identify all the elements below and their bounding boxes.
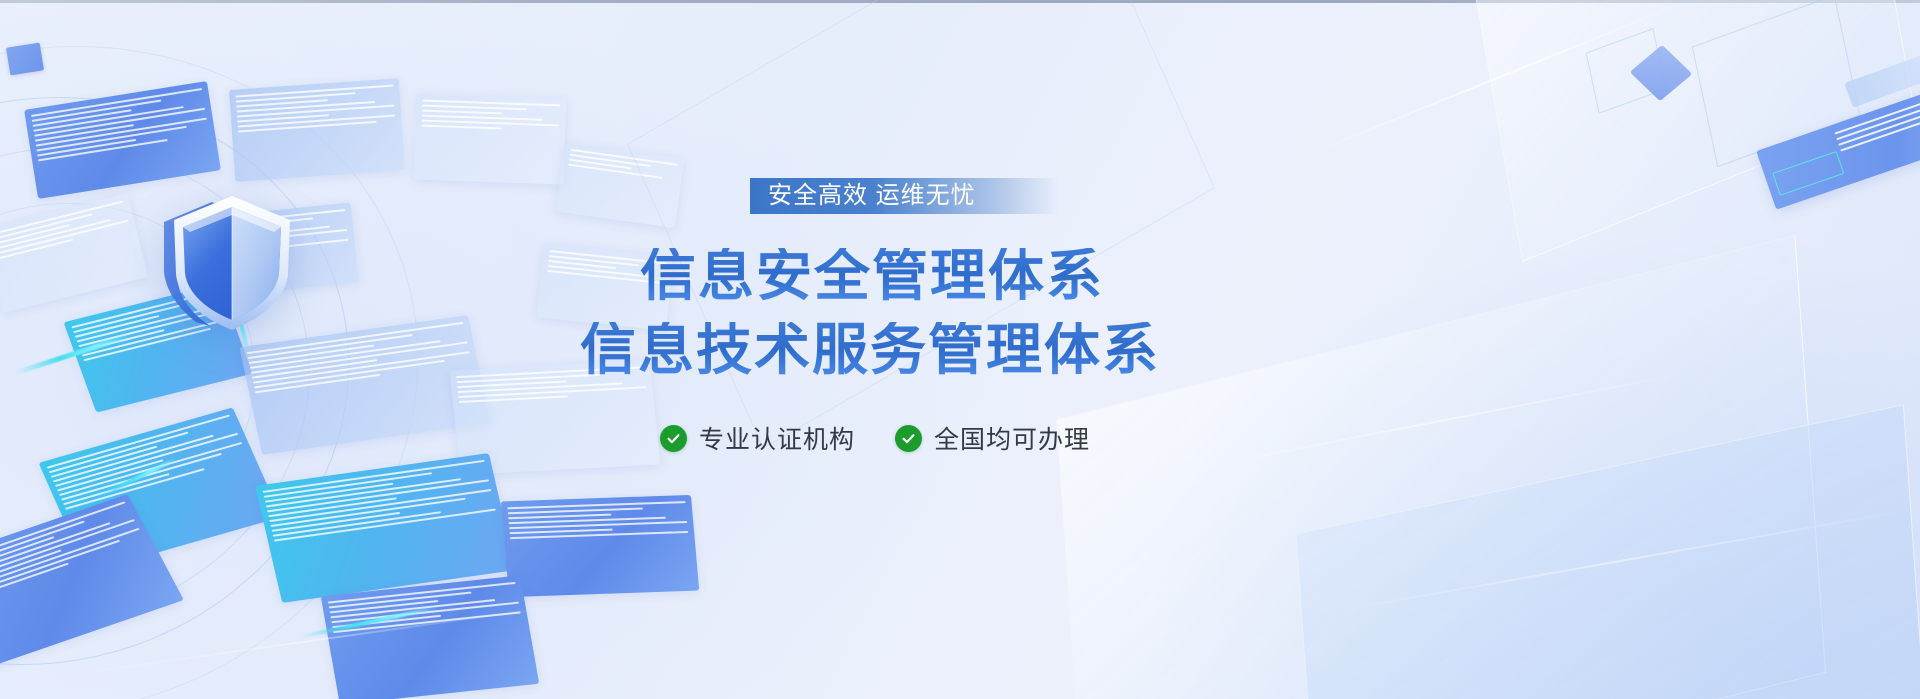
hero-content: 安全高效 运维无忧 信息安全管理体系 信息技术服务管理体系 专业认证机构 全国: [0, 0, 1920, 699]
headline-line-2: 信息技术服务管理体系: [580, 322, 1160, 378]
feature-label: 专业认证机构: [699, 420, 855, 456]
headline-line-1: 信息安全管理体系: [640, 248, 1104, 304]
hero-banner: 安全高效 运维无忧 信息安全管理体系 信息技术服务管理体系 专业认证机构 全国: [0, 0, 1920, 699]
feature-item: 全国均可办理: [895, 420, 1090, 456]
feature-label: 全国均可办理: [934, 420, 1090, 456]
feature-item: 专业认证机构: [660, 420, 855, 456]
check-circle-icon: [895, 425, 922, 452]
tagline-badge: 安全高效 运维无忧: [750, 178, 1060, 214]
check-circle-icon: [660, 425, 687, 452]
feature-list: 专业认证机构 全国均可办理: [660, 420, 1090, 456]
